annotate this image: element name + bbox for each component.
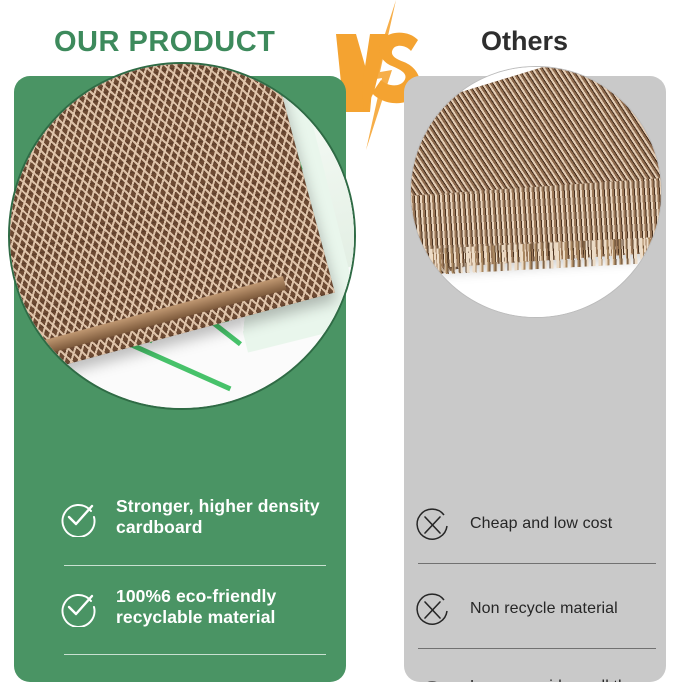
feature-label: Cheap and low cost (470, 514, 612, 534)
cross-circle-icon (412, 589, 452, 629)
check-circle-icon (58, 587, 98, 627)
feature-label: Non recycle material (470, 599, 618, 619)
feature-row: 100%6 eco-friendly recyclable material (58, 586, 328, 629)
others-photo (410, 66, 662, 318)
our-product-photo (8, 62, 356, 410)
feature-divider (64, 565, 326, 566)
our-product-heading: OUR PRODUCT (54, 26, 275, 59)
others-photo-content (411, 67, 661, 317)
feature-row: Stronger, higher density cardboard (58, 496, 328, 539)
cross-circle-icon (412, 677, 452, 682)
feature-label: Stronger, higher density cardboard (116, 496, 328, 539)
comparison-infographic: OUR PRODUCT Others Stronger, higher dens… (0, 0, 679, 698)
feature-divider (64, 654, 326, 655)
others-heading: Others (481, 26, 568, 57)
feature-label: 100%6 eco-friendly recyclable material (116, 586, 328, 629)
product-photo-content (10, 64, 354, 408)
feature-row: Non recycle material (412, 589, 662, 629)
cross-circle-icon (412, 504, 452, 544)
feature-row: Leaves residues all the time (412, 677, 662, 682)
feature-row: Cheap and low cost (412, 504, 662, 544)
feature-divider (418, 648, 656, 649)
check-circle-icon (58, 497, 98, 537)
feature-divider (418, 563, 656, 564)
feature-label: Leaves residues all the time (470, 677, 662, 682)
